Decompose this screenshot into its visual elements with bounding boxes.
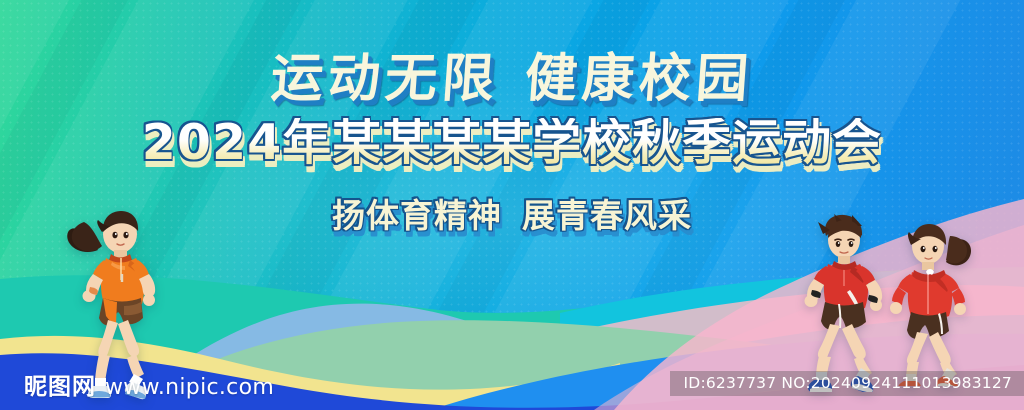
watermark-id-band: ID:6237737 NO:20240924111013983127 [670,371,1024,396]
watermark-site-name: 昵图网 [24,367,96,401]
watermark-site-url: www.nipic.com [105,375,274,400]
poster-banner: 运动无限健康校园 2024年某某某某学校秋季运动会 扬体育精神展青春风采 [0,0,1024,410]
watermark-nipic: 昵图网 www.nipic.com [24,367,274,401]
